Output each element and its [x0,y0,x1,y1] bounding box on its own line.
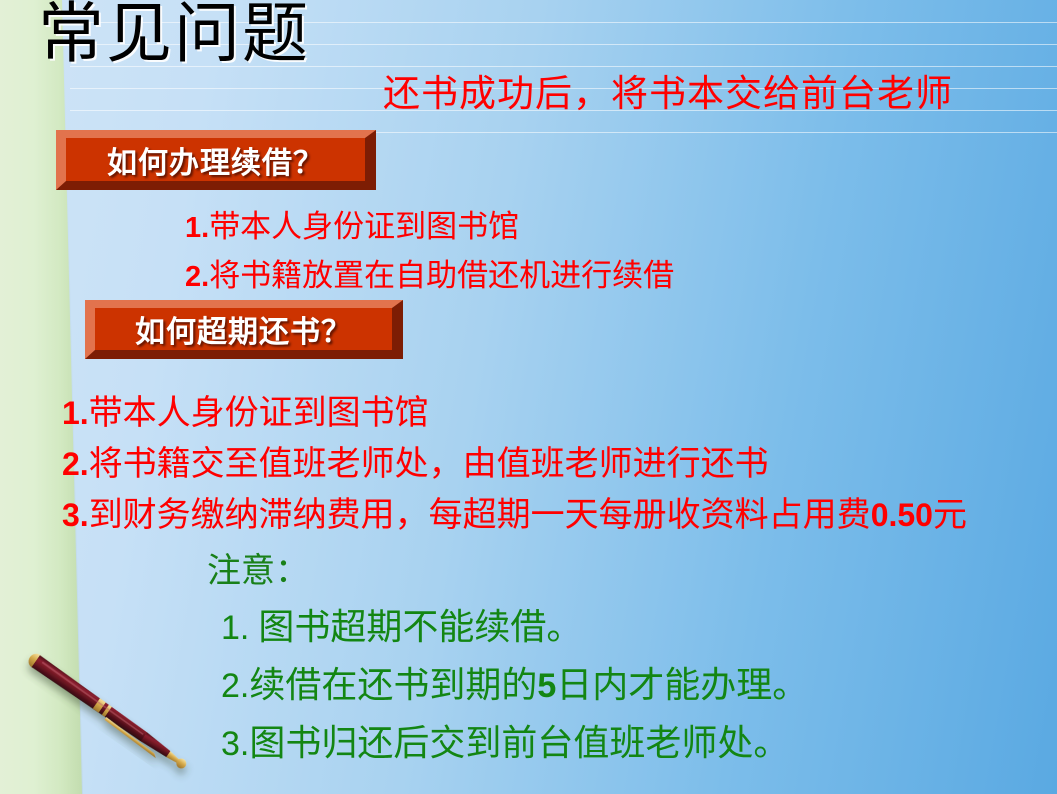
list-item-text: 续借在还书到期的 [249,665,537,705]
list-item-text: 图书超期不能续借。 [249,607,582,647]
overdue-question-button[interactable]: 如何超期还书？ [85,300,403,359]
list-item-text-tail: 日内才能办理。 [556,665,808,705]
renew-steps-list: 1.带本人身份证到图书馆 2.将书籍放置在自助借还机进行续借 [185,203,674,301]
list-item-text: 图书归还后交到前台值班老师处。 [249,723,789,763]
renew-question-button-label: 如何办理续借？ [107,138,324,182]
list-item-number: 1. [185,212,209,244]
overdue-steps-list: 1.带本人身份证到图书馆 2.将书籍交至值班老师处，由值班老师进行还书 3.到财… [62,388,967,541]
page-title: 常见问题 [38,0,310,74]
list-item-text: 到财务缴纳滞纳费用，每超期一天每册收资料占用费 [89,497,871,534]
list-item-number: 2. [62,446,89,482]
note-highlight-value: 5 [537,667,556,705]
note-block: 注意： 1. 图书超期不能续借。 2.续借在还书到期的5日内才能办理。 3.图书… [207,545,808,773]
list-item: 1.带本人身份证到图书馆 [62,388,967,439]
list-item-number: 3. [221,725,249,763]
list-item-text: 将书籍交至值班老师处，由值班老师进行还书 [89,446,769,483]
list-item-text: 将书籍放置在自助借还机进行续借 [209,258,674,293]
list-item-number: 2. [185,261,209,293]
list-item-text: 带本人身份证到图书馆 [89,395,429,432]
renew-question-button[interactable]: 如何办理续借？ [56,130,376,190]
list-item: 1. 图书超期不能续借。 [221,599,808,657]
slide-canvas: 常见问题 还书成功后，将书本交给前台老师 如何办理续借？ 1.带本人身份证到图书… [0,0,1057,794]
list-item: 3.到财务缴纳滞纳费用，每超期一天每册收资料占用费0.50元 [62,490,967,541]
note-title: 注意： [207,545,808,599]
list-item: 3.图书归还后交到前台值班老师处。 [221,715,808,773]
list-item-text: 带本人身份证到图书馆 [209,209,519,244]
list-item-number: 1. [62,395,89,431]
list-item: 1.带本人身份证到图书馆 [185,203,674,252]
list-item-number: 2. [221,667,249,705]
list-item: 2.将书籍放置在自助借还机进行续借 [185,252,674,301]
list-item-number: 3. [62,497,89,533]
list-item: 2.续借在还书到期的5日内才能办理。 [221,657,808,715]
list-item-number: 1. [221,609,249,647]
headline-text: 还书成功后，将书本交给前台老师 [383,72,953,118]
overdue-fee-unit: 元 [933,497,967,534]
overdue-question-button-label: 如何超期还书？ [135,307,352,351]
list-item: 2.将书籍交至值班老师处，由值班老师进行还书 [62,439,967,490]
overdue-fee-amount: 0.50 [871,497,933,533]
